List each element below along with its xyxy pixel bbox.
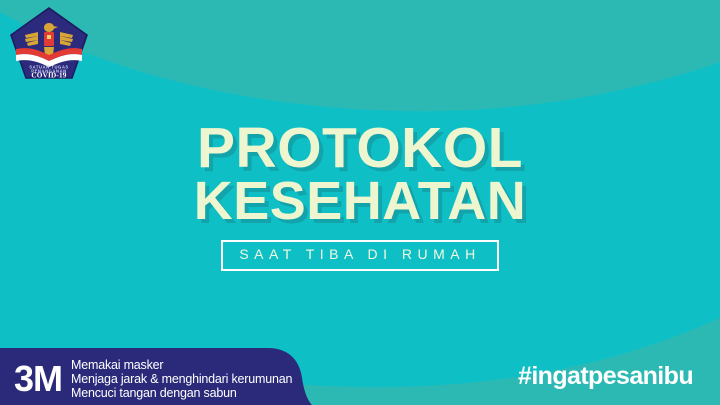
- tip-item-1: Memakai masker: [71, 358, 292, 372]
- tips-list: Memakai masker Menjaga jarak & menghinda…: [71, 358, 292, 400]
- tip-item-2: Menjaga jarak & menghindari kerumunan: [71, 372, 292, 386]
- tip-item-3: Mencuci tangan dengan sabun: [71, 386, 292, 400]
- poster-canvas: SATUAN TUGAS PENANGANAN COVID-19 PROTOKO…: [0, 0, 720, 405]
- subtitle-container: SAAT TIBA DI RUMAH: [0, 240, 720, 271]
- page-title: PROTOKOL KESEHATAN: [0, 122, 720, 228]
- tips-panel: 3M Memakai masker Menjaga jarak & menghi…: [0, 348, 322, 405]
- logo-svg: SATUAN TUGAS PENANGANAN COVID-19: [8, 6, 90, 82]
- satgas-covid19-logo: SATUAN TUGAS PENANGANAN COVID-19: [8, 6, 90, 82]
- tips-badge-3m: 3M: [14, 361, 62, 397]
- title-line-kesehatan: KESEHATAN: [0, 175, 720, 228]
- title-line-protokol: PROTOKOL: [0, 122, 720, 175]
- emblem-center-star: [47, 35, 51, 39]
- campaign-hashtag: #ingatpesanibu: [518, 362, 693, 390]
- subtitle-text: SAAT TIBA DI RUMAH: [239, 246, 480, 262]
- tips-content: 3M Memakai masker Menjaga jarak & menghi…: [0, 348, 322, 405]
- subtitle-box: SAAT TIBA DI RUMAH: [221, 240, 498, 271]
- logo-line3: COVID-19: [31, 72, 66, 80]
